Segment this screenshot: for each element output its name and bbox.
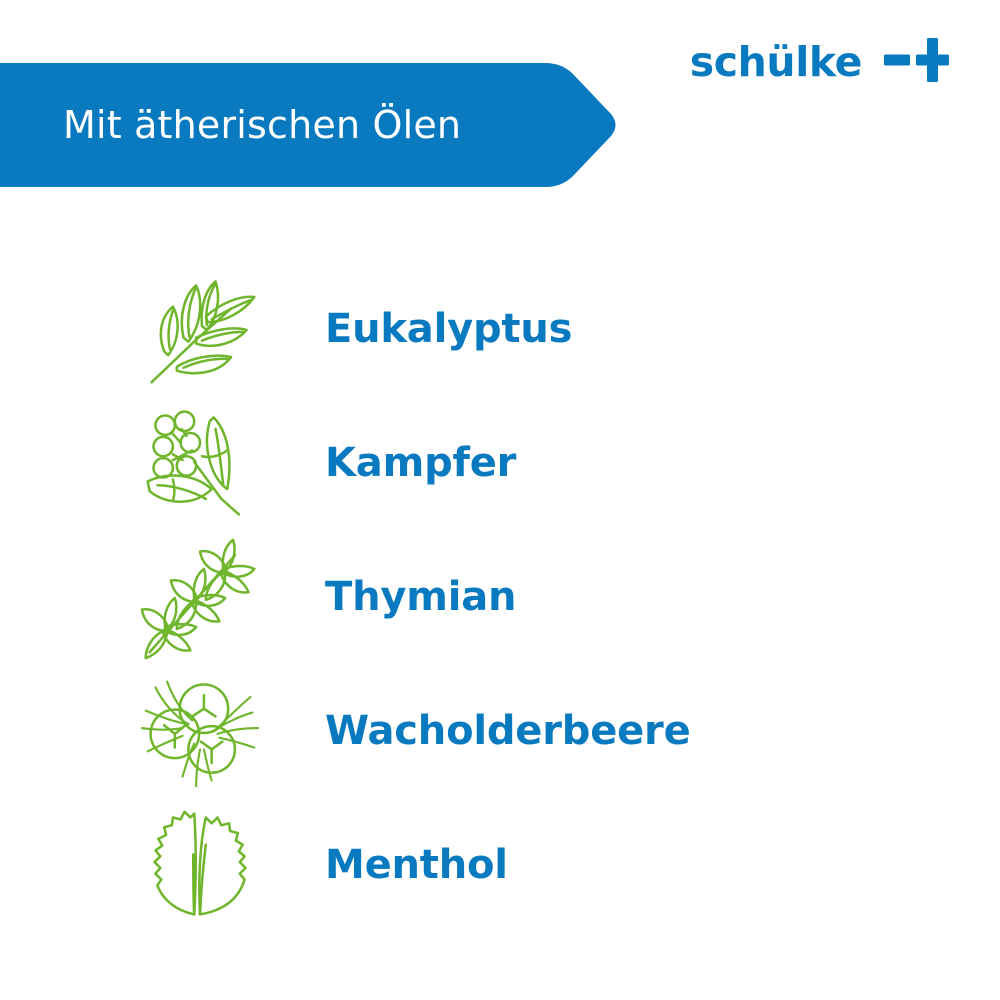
list-item-label: Wacholderbeere (325, 711, 691, 751)
infographic-page: schülke Mit ätherischen Ölen (0, 0, 1000, 1000)
brand-wordmark: schülke (690, 42, 862, 83)
eucalyptus-leaves-icon (136, 264, 266, 394)
banner: Mit ätherischen Ölen (0, 63, 620, 187)
ingredient-list: Eukalyptus (0, 262, 1000, 932)
dash-plus-mark-icon (884, 38, 962, 87)
list-item-label: Kampfer (325, 443, 516, 483)
list-item-label: Eukalyptus (325, 309, 572, 349)
camphor-leaves-berries-icon (136, 398, 266, 528)
list-item-label: Menthol (325, 845, 508, 885)
list-item: Thymian (0, 530, 1000, 664)
list-item: Wacholderbeere (0, 664, 1000, 798)
list-item: Eukalyptus (0, 262, 1000, 396)
brand-logo: schülke (690, 38, 962, 87)
banner-title: Mit ätherischen Ölen (63, 63, 461, 187)
list-item: Menthol (0, 798, 1000, 932)
list-item-label: Thymian (325, 577, 516, 617)
thyme-sprig-icon (136, 532, 266, 662)
mint-leaves-icon (136, 800, 266, 930)
juniper-berries-icon (136, 666, 266, 796)
list-item: Kampfer (0, 396, 1000, 530)
